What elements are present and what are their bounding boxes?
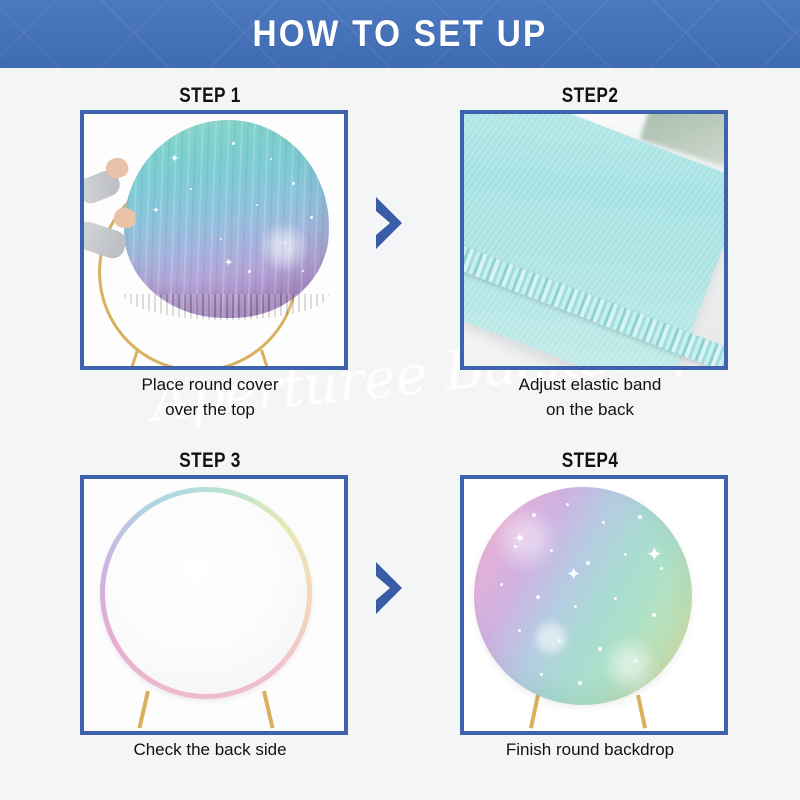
sparkle-dot [634,659,637,662]
page-header: HOW TO SET UP [0,0,800,68]
stand-leg-right [260,350,271,370]
sparkle-dot [270,158,272,160]
step-3-caption: Check the back side [60,737,360,762]
step-2-illustration [464,114,724,366]
back-panel-surface [105,492,307,694]
step-1-title: STEP 1 [103,84,316,108]
step-3-illustration [84,479,344,731]
stand-leg-left [529,695,540,729]
gradient-cover-fabric: ✦ ✦ ✦ [124,120,329,318]
sparkle-dot [578,681,582,685]
sparkle-star: ✦ [566,565,581,583]
step-1-caption: Place round cover over the top [60,372,360,422]
sparkle-dot [566,503,569,506]
sparkle-dot [500,583,503,586]
sparkle-star: ✦ [152,206,160,215]
finished-backdrop-cover: ✦ ✦ ✦ [474,487,692,705]
sparkle-star: ✦ [514,531,526,545]
sparkle-dot [638,515,642,519]
step-card-1: STEP 1 ✦ ✦ ✦ [80,84,340,384]
step-3-image-frame [80,475,348,735]
step-1-illustration: ✦ ✦ ✦ [84,114,344,366]
sparkle-dot [540,673,543,676]
step-3-title: STEP 3 [103,449,316,473]
chevron-right-icon [372,197,408,249]
step-1-image-frame: ✦ ✦ ✦ [80,110,348,370]
chevron-right-icon [372,562,408,614]
sparkle-dot [292,182,295,185]
step-2-image-frame [460,110,728,370]
sparkle-dot [660,567,663,570]
sparkle-dot [518,629,521,632]
stand-leg-right [636,695,647,729]
sparkle-dot [586,561,590,565]
sparkle-dot [602,521,605,524]
stand-leg-left [128,350,139,370]
step-4-illustration: ✦ ✦ ✦ [464,479,724,731]
sparkle-star: ✦ [224,258,233,269]
sparkle-dot [284,242,286,244]
sparkle-dot [302,270,304,272]
sparkle-dot [624,553,627,556]
sparkle-dot [256,204,258,206]
sparkle-dot [598,647,602,651]
step-card-3: STEP 3 Check the back side [80,449,340,749]
step-2-title: STEP2 [483,84,696,108]
sparkle-dot [190,188,192,190]
sparkle-dot [220,238,222,240]
sparkle-dot [574,605,577,608]
sparkle-dot [248,270,251,273]
fabric-folds [124,120,329,318]
sparkle-dot [532,513,536,517]
sparkle-dot [652,613,656,617]
sparkle-dot [536,595,540,599]
page-title: HOW TO SET UP [40,0,760,68]
sparkle-star: ✦ [170,154,179,165]
backdrop-back-side [100,487,312,699]
step-card-4: STEP4 [460,449,720,749]
step-2-caption: Adjust elastic band on the back [440,372,740,422]
sparkle-star: ✦ [646,545,663,565]
step-card-2: STEP2 Adjust elastic band on the back [460,84,720,384]
sparkle-dot [232,142,235,145]
step-4-title: STEP4 [483,449,696,473]
sparkle-dot [550,549,553,552]
step-4-caption: Finish round backdrop [440,737,740,762]
stand-leg-left [138,691,150,729]
stand-leg-right [262,691,274,729]
sparkle-dot [310,216,313,219]
lens-flare [536,623,566,653]
step-4-image-frame: ✦ ✦ ✦ [460,475,728,735]
sparkle-dot [614,597,617,600]
